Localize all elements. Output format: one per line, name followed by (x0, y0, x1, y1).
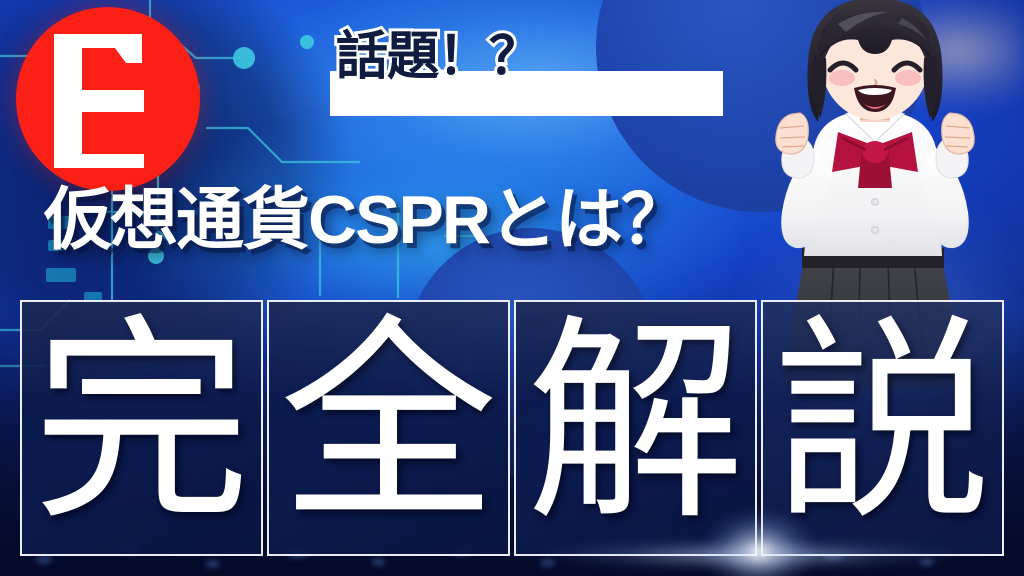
bokeh-dot (36, 555, 52, 564)
headline-box: 全 (267, 300, 510, 556)
bokeh-dot (372, 558, 385, 566)
thumbnail-canvas: 話題！？ 話題！？ 仮想通貨CSPRとは？ 完 全 解 説 (0, 0, 1024, 576)
headline-box: 完 (20, 300, 263, 556)
topic-text: 話題！？ (336, 31, 540, 83)
headline-char: 解 (527, 335, 745, 514)
headline-char: 完 (33, 335, 251, 514)
page-title: 仮想通貨CSPRとは？ (44, 186, 687, 254)
casper-logo (16, 7, 200, 191)
headline-box-row: 完 全 解 説 (20, 300, 1004, 556)
bokeh-dot (206, 560, 220, 568)
headline-char: 全 (280, 335, 498, 514)
bottom-flare (684, 496, 834, 576)
logo-c-mark-icon (16, 7, 200, 191)
headline-char: 説 (774, 335, 992, 514)
